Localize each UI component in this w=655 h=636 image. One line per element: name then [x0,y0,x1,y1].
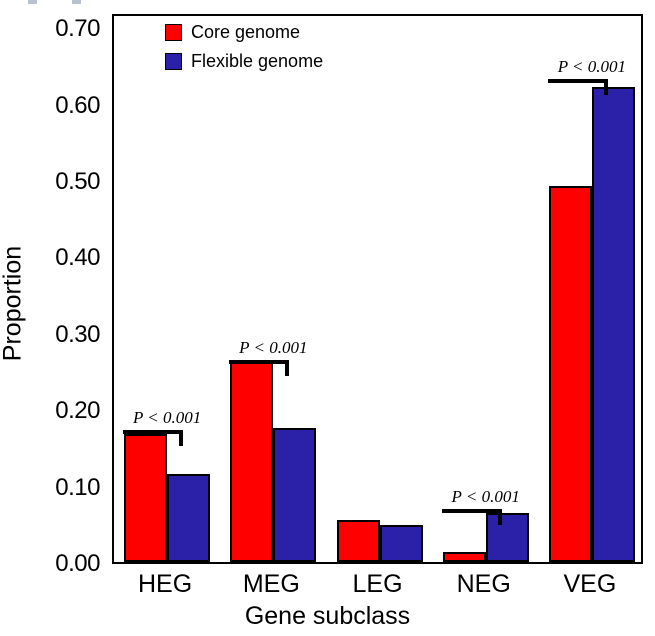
significance-label: P < 0.001 [558,57,626,77]
x-axis-title: Gene subclass [0,602,655,631]
y-tick-label: 0.30 [24,323,100,347]
significance-bracket [442,509,502,525]
top-crop-marks [28,0,98,6]
bar-veg-core [549,186,592,562]
bar-heg-flexible [167,474,210,562]
significance-bracket [229,360,289,376]
legend-swatch-icon [165,24,182,41]
bar-meg-core [230,362,273,562]
y-axis-title: Proportion [0,69,28,539]
legend-item-flexible-genome: Flexible genome [165,47,323,76]
y-tick-label: 0.40 [24,246,100,270]
bar-meg-flexible [273,428,316,562]
legend-label: Flexible genome [191,51,323,72]
y-tick-label: 0.60 [24,94,100,118]
y-tick-label: 0.50 [24,170,100,194]
significance-label: P < 0.001 [133,408,201,428]
bar-heg-core [124,434,167,562]
y-tick-label: 0.70 [24,17,100,41]
y-tick-label: 0.00 [24,552,100,576]
significance-label: P < 0.001 [452,487,520,507]
bar-leg-core [337,520,380,562]
bar-leg-flexible [380,525,423,562]
x-tick-label-veg: VEG [563,570,616,599]
bar-neg-core [443,552,486,562]
legend-label: Core genome [191,22,300,43]
legend-item-core-genome: Core genome [165,18,323,47]
legend: Core genomeFlexible genome [165,18,323,76]
legend-swatch-icon [165,53,182,70]
y-tick-label: 0.20 [24,399,100,423]
significance-bracket [123,430,183,446]
y-tick-label: 0.10 [24,476,100,500]
x-tick-label-leg: LEG [352,570,402,599]
x-tick-label-neg: NEG [457,570,511,599]
significance-label: P < 0.001 [239,338,307,358]
bar-veg-flexible [592,87,635,562]
plot-frame [112,14,643,564]
chart-root: Proportion 0.000.100.200.300.400.500.600… [0,0,655,636]
plot-area [114,16,641,562]
x-tick-label-heg: HEG [138,570,192,599]
x-tick-label-meg: MEG [243,570,300,599]
significance-bracket [548,79,608,95]
